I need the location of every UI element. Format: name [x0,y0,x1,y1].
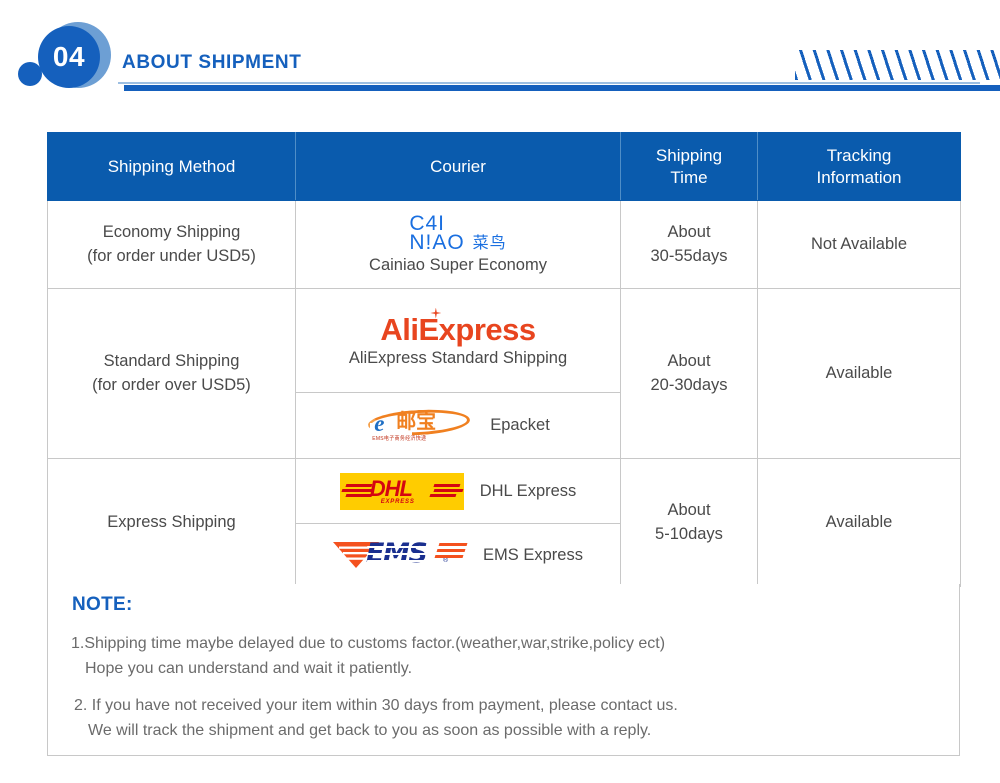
page-root: 04 ABOUT SHIPMENT Shipping Method Courie… [0,0,1000,783]
ems-stripe-1 [367,546,442,548]
ems-stripe-3 [367,560,442,562]
dhl-logo: DHL EXPRESS [340,473,464,510]
column-header-courier: Courier [296,133,621,201]
dhl-bar-left-2 [341,489,372,492]
note-item-2: 2. If you have not received your item wi… [74,694,678,744]
dhl-bar-left-1 [345,484,372,487]
epacket-logo-e: e [374,412,384,435]
cell-courier-aliexpress: AliExpress AliExpress Standard Shipping [296,289,621,393]
cell-time-standard: About 20-30days [621,289,758,459]
note-item-1: 1.Shipping time maybe delayed due to cus… [71,632,665,682]
time-express-line2: 5-10days [621,523,757,546]
column-header-shipping-method: Shipping Method [48,133,296,201]
time-economy-line2: 30-55days [621,245,757,268]
method-economy-line2: (for order under USD5) [48,245,295,268]
note-item-2-line2: We will track the shipment and get back … [74,719,678,744]
epacket-logo-chinese: 邮宝 [396,412,436,432]
column-header-shipping-time-line1: Shipping [656,146,722,165]
cell-method-express: Express Shipping [48,459,296,587]
table-header-row: Shipping Method Courier Shipping Time Tr… [48,133,961,201]
courier-dhl-caption: DHL Express [480,482,577,501]
aliexpress-logo: AliExpress [380,314,535,345]
cell-method-standard: Standard Shipping (for order over USD5) [48,289,296,459]
courier-epacket-block: e 邮宝 EMS电子商务经济快递 Epacket [296,407,620,445]
cell-tracking-express: Available [758,459,961,587]
epacket-logo-tagline: EMS电子商务经济快递 [372,434,426,442]
courier-cainiao-block: C4I N!AO 菜鸟 Cainiao Super Economy [296,214,620,276]
dhl-bar-right-3 [429,494,456,497]
note-item-2-line1: 2. If you have not received your item wi… [74,694,678,719]
courier-ems-block: EMS ® EMS Express [296,537,620,573]
time-economy-line1: About [621,221,757,244]
cainiao-logo-chinese: 菜鸟 [473,237,507,253]
dhl-logo-subtext: EXPRESS [381,499,415,505]
courier-epacket-caption: Epacket [490,416,550,435]
cell-tracking-standard: Available [758,289,961,459]
ems-bar-right-1 [439,543,468,546]
cell-time-economy: About 30-55days [621,201,758,289]
header-section-badge: 04 [38,26,100,88]
table-row-standard-aliexpress: Standard Shipping (for order over USD5) … [48,289,961,393]
note-item-1-line1: 1.Shipping time maybe delayed due to cus… [71,632,665,657]
cainiao-logo-line2: N!AO [409,233,464,252]
note-title: NOTE: [72,594,133,616]
method-express-line1: Express Shipping [48,511,295,534]
time-express-line1: About [621,499,757,522]
table-row-economy: Economy Shipping (for order under USD5) … [48,201,961,289]
dhl-bar-left-3 [345,494,372,497]
cainiao-logo: C4I N!AO 菜鸟 [409,214,506,253]
cell-time-express: About 5-10days [621,459,758,587]
header-rule-bold [124,85,1000,91]
column-header-tracking-line2: Information [816,168,901,187]
courier-aliexpress-block: AliExpress AliExpress Standard Shipping [296,314,620,368]
cainiao-logo-letters: C4I N!AO [409,214,464,253]
ems-bar-right-3 [435,555,464,558]
method-economy-line1: Economy Shipping [48,221,295,244]
ems-registered-mark: ® [443,557,448,564]
cell-method-economy: Economy Shipping (for order under USD5) [48,201,296,289]
ems-bar-right-2 [437,549,466,552]
courier-dhl-block: DHL EXPRESS DHL Express [296,473,620,510]
shipping-methods-table: Shipping Method Courier Shipping Time Tr… [47,132,961,587]
cell-tracking-economy: Not Available [758,201,961,289]
courier-cainiao-caption: Cainiao Super Economy [369,256,547,275]
cell-courier-ems: EMS ® EMS Express [296,524,621,587]
courier-aliexpress-caption: AliExpress Standard Shipping [349,349,567,368]
dhl-logo-text: DHL [370,478,412,500]
note-section: NOTE: 1.Shipping time maybe delayed due … [47,584,960,756]
table-body: Economy Shipping (for order under USD5) … [48,201,961,587]
column-header-shipping-time-line2: Time [670,168,707,187]
courier-ems-caption: EMS Express [483,546,583,565]
time-standard-line1: About [621,350,757,373]
table-row-express-dhl: Express Shipping DHL EXPRESS [48,459,961,524]
dhl-bar-right-1 [433,484,460,487]
section-header: 04 ABOUT SHIPMENT [0,0,1000,110]
header-rule-light [118,82,980,84]
cell-courier-epacket: e 邮宝 EMS电子商务经济快递 Epacket [296,393,621,459]
note-item-1-line2: Hope you can understand and wait it pati… [71,657,665,682]
aliexpress-logo-text: AliExpress [380,312,535,347]
dhl-bar-right-2 [433,489,463,492]
method-standard-line1: Standard Shipping [48,350,295,373]
method-standard-line2: (for order over USD5) [48,374,295,397]
column-header-tracking-information: Tracking Information [758,133,961,201]
time-standard-line2: 20-30days [621,374,757,397]
header-diagonal-stripes-icon [795,50,1000,80]
ems-stripe-2 [367,553,442,555]
cell-courier-dhl: DHL EXPRESS DHL Express [296,459,621,524]
epacket-logo: e 邮宝 EMS电子商务经济快递 [366,407,474,445]
table-header: Shipping Method Courier Shipping Time Tr… [48,133,961,201]
column-header-shipping-time: Shipping Time [621,133,758,201]
page-title: ABOUT SHIPMENT [122,52,301,74]
header-badge-number: 04 [53,43,85,71]
column-header-tracking-line1: Tracking [827,146,892,165]
cell-courier-cainiao: C4I N!AO 菜鸟 Cainiao Super Economy [296,201,621,289]
ems-logo: EMS ® [333,537,467,573]
